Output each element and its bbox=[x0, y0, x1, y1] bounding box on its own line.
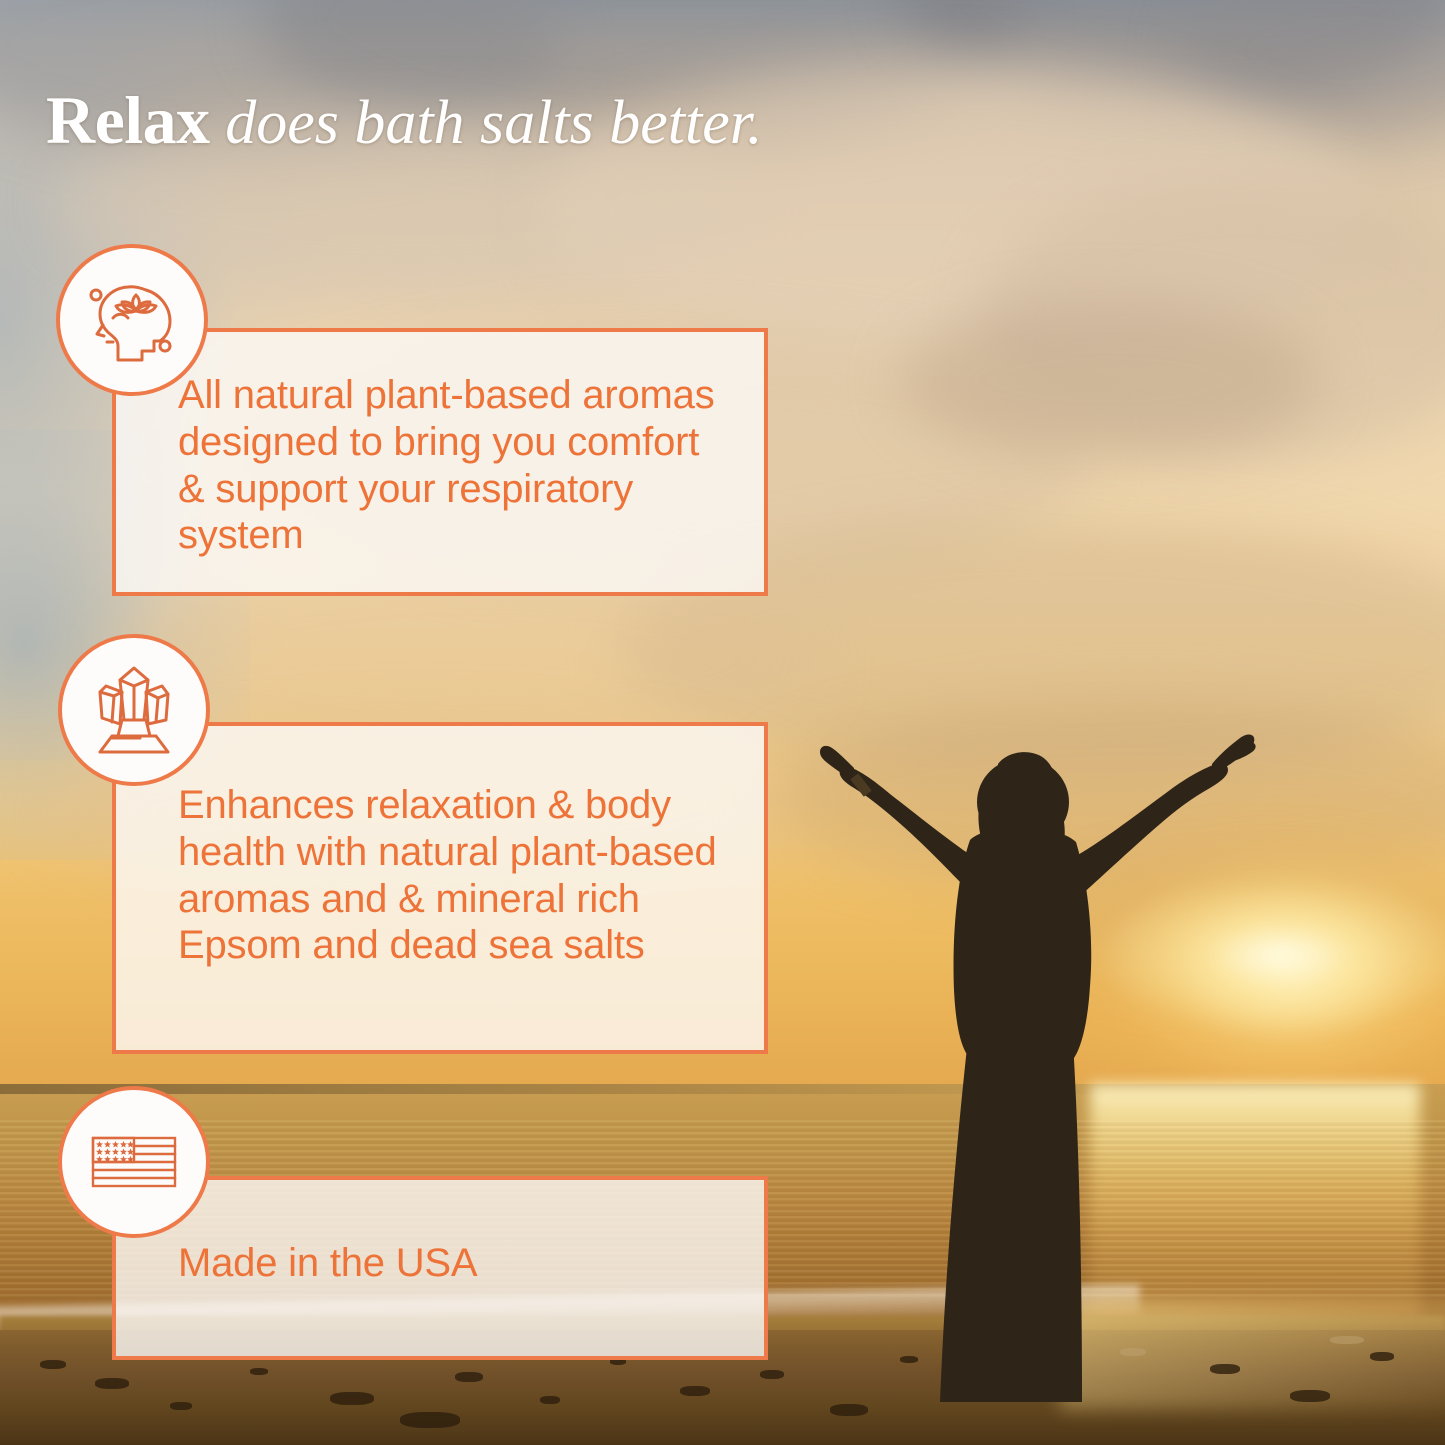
woman-silhouette bbox=[820, 690, 1300, 1410]
sand-debris bbox=[760, 1370, 784, 1379]
feature-text-1: All natural plant-based aromas designed … bbox=[116, 332, 764, 583]
feature-textbox-2: Enhances relaxation & body health with n… bbox=[112, 722, 768, 1054]
cloud bbox=[900, 300, 1320, 460]
sand-debris bbox=[250, 1368, 268, 1375]
sand-debris bbox=[540, 1396, 560, 1404]
sand-debris bbox=[170, 1402, 192, 1410]
feature-textbox-3: Made in the USA bbox=[112, 1176, 768, 1360]
sand-debris bbox=[1330, 1336, 1364, 1344]
sand-debris bbox=[40, 1360, 66, 1369]
mindfulness-head-lotus-icon bbox=[56, 244, 208, 396]
sand-debris bbox=[455, 1372, 483, 1382]
sand-debris bbox=[680, 1386, 710, 1396]
promo-image-canvas: Relax does bath salts better. All natura… bbox=[0, 0, 1445, 1445]
sand-debris bbox=[95, 1378, 129, 1389]
headline: Relax does bath salts better. bbox=[46, 86, 763, 154]
sand-debris bbox=[330, 1392, 374, 1405]
headline-brand: Relax bbox=[46, 82, 210, 158]
sand-debris bbox=[400, 1412, 460, 1428]
feature-text-2: Enhances relaxation & body health with n… bbox=[116, 726, 764, 993]
mineral-salt-crystals-icon bbox=[58, 634, 210, 786]
usa-flag-icon bbox=[58, 1086, 210, 1238]
feature-textbox-1: All natural plant-based aromas designed … bbox=[112, 328, 768, 596]
headline-rest: does bath salts better. bbox=[210, 89, 763, 157]
sand-debris bbox=[1370, 1352, 1394, 1361]
feature-text-3: Made in the USA bbox=[116, 1180, 764, 1311]
